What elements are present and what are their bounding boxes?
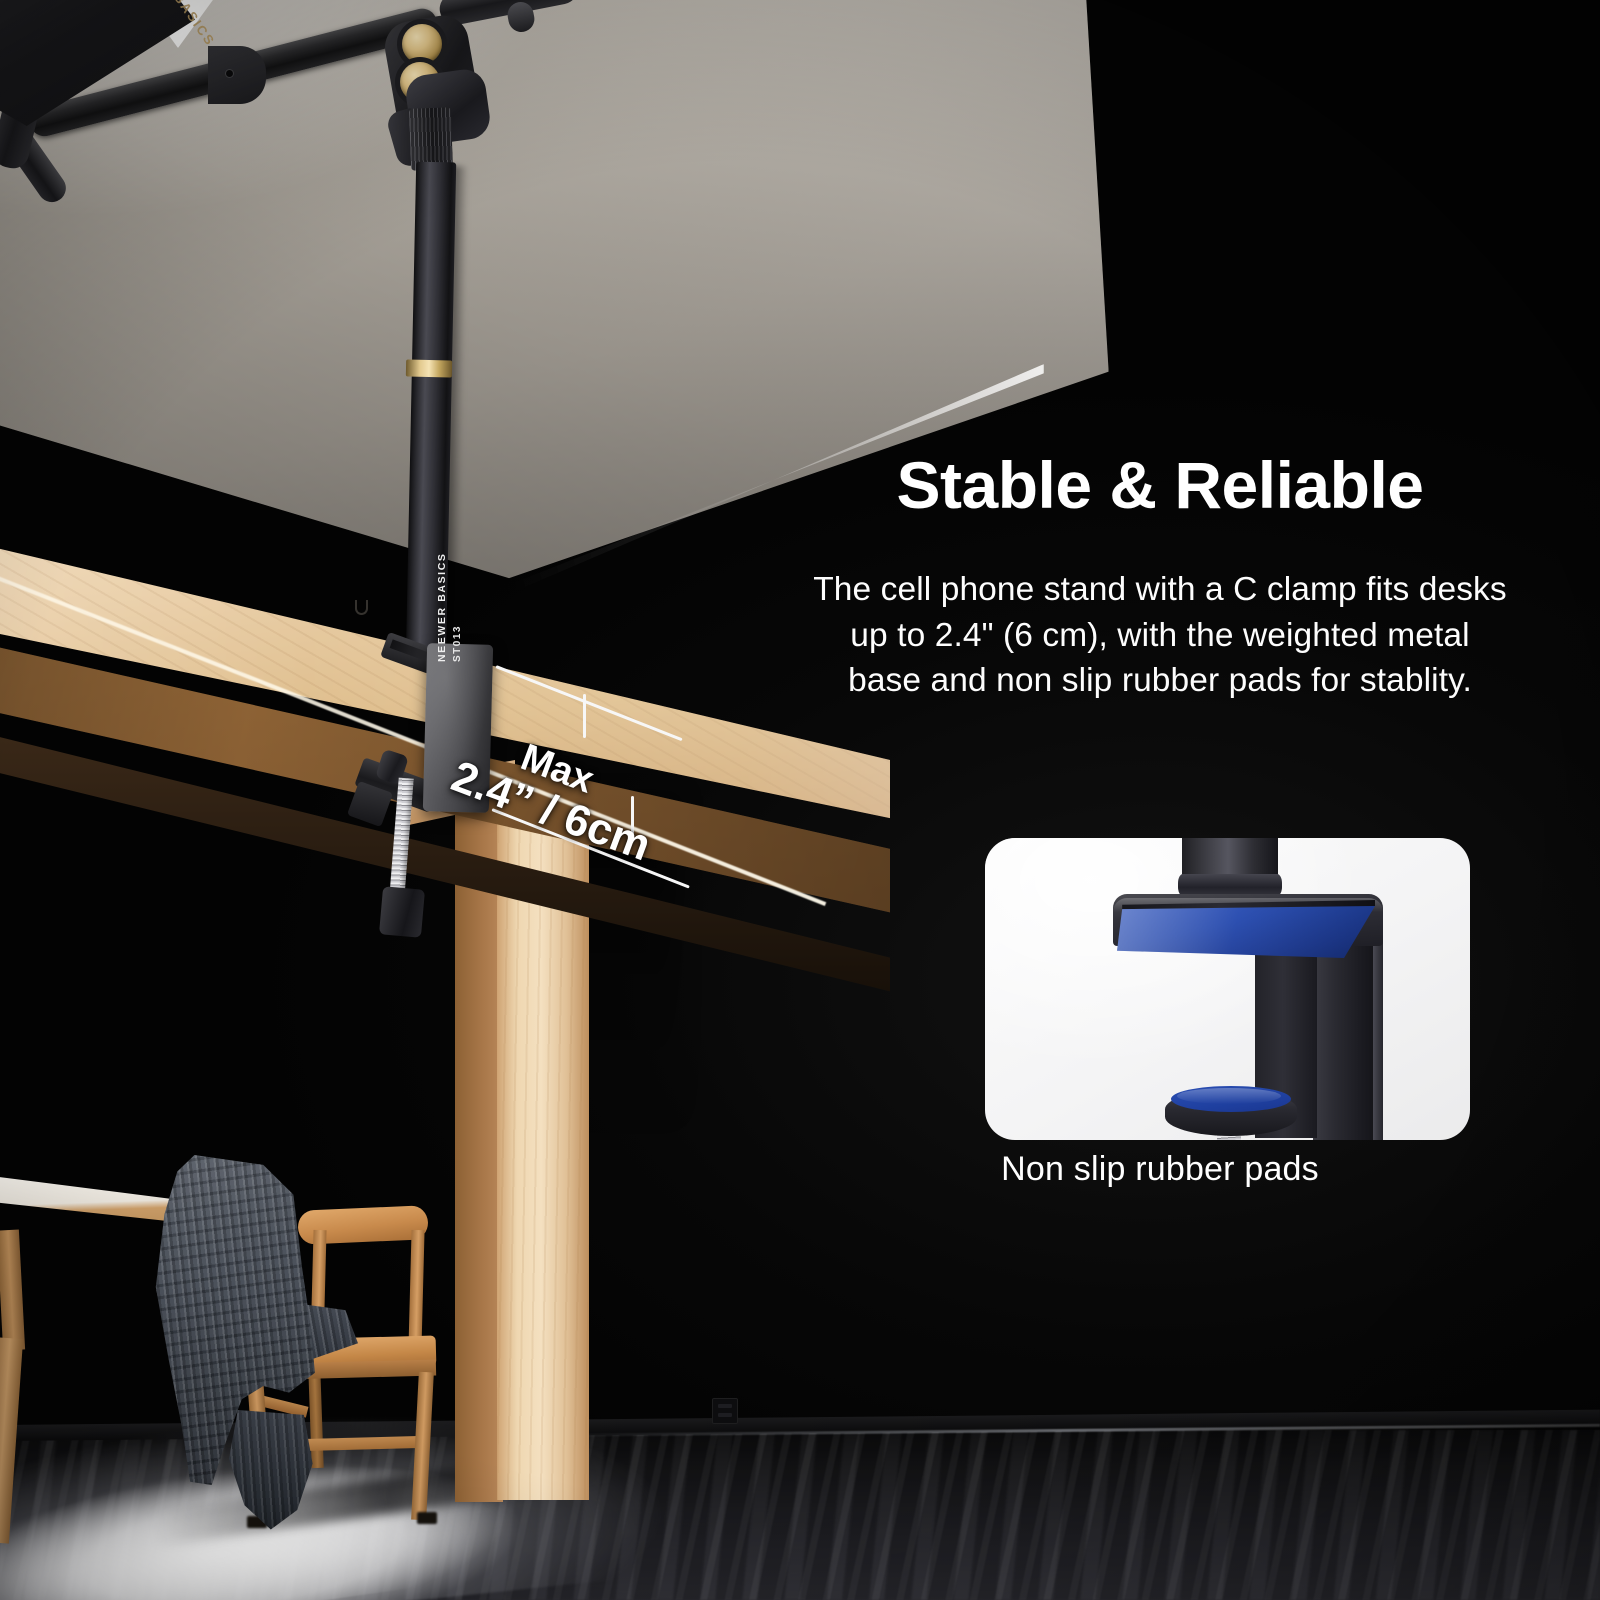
panel-hook: [355, 600, 368, 615]
inset-clamp-spine-edge: [1373, 918, 1383, 1140]
inset-bottom-pad-highlight: [1177, 1088, 1281, 1104]
inset-pole-collar: [1178, 874, 1282, 896]
inset-top-pad-highlight: [1117, 906, 1375, 958]
desk-leg-inner-face: [455, 812, 503, 1502]
inset-clamp-spine: [1313, 926, 1379, 1140]
rubber-pad-detail-card: [985, 838, 1470, 1140]
clamp-model-label: ST013: [452, 542, 470, 662]
body-description: The cell phone stand with a C clamp fits…: [810, 567, 1510, 704]
page-title: Stable & Reliable: [810, 452, 1510, 519]
clamp-screw-handle[interactable]: [379, 886, 425, 937]
photo-scene: NEEWER BASICS NEEWER BASICS ST013 M: [0, 0, 1600, 1600]
marketing-copy-block: Stable & Reliable The cell phone stand w…: [810, 452, 1510, 704]
chair-foot-right: [417, 1512, 437, 1524]
pole-brass-ring: [406, 360, 452, 378]
brass-tension-knob-upper[interactable]: [402, 24, 442, 64]
inset-caption: Non slip rubber pads: [810, 1150, 1510, 1189]
product-marketing-image: NEEWER BASICS NEEWER BASICS ST013 M: [0, 0, 1600, 1600]
chair-leg-front-right: [411, 1372, 434, 1521]
dimension-tick-upper: [583, 694, 586, 738]
phone-holder-tab: [208, 46, 266, 104]
wall-outlet: [712, 1398, 738, 1424]
chair-back-post-right: [408, 1230, 424, 1350]
